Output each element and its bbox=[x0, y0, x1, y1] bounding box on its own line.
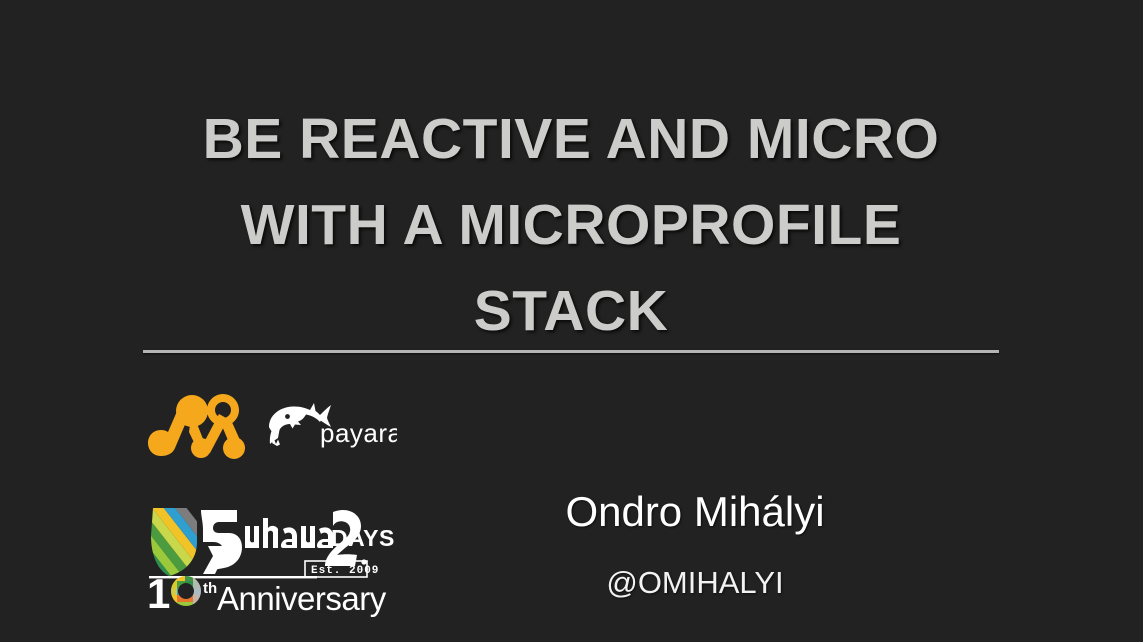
payara-wordmark: payara bbox=[320, 418, 397, 448]
anniversary-color-ring bbox=[169, 574, 205, 610]
title-divider bbox=[143, 350, 999, 353]
title-line-1: BE REACTIVE AND MICRO bbox=[143, 96, 999, 182]
javadays-anniversary-logo: DAYS 1 th Anniversary Es bbox=[145, 496, 395, 618]
javadays-days-wordmark: DAYS bbox=[331, 525, 395, 551]
anniversary-ordinal: th bbox=[203, 580, 217, 597]
anniversary-number: 1 bbox=[147, 570, 170, 617]
speaker-handle: @OMIHALYI bbox=[545, 564, 845, 602]
anniversary-word: Anniversary bbox=[217, 580, 387, 617]
payara-logo: payara bbox=[257, 399, 397, 451]
title-line-3: STACK bbox=[143, 268, 999, 354]
javadays-logo-container: DAYS 1 th Anniversary Es bbox=[145, 496, 395, 618]
speaker-name: Ondro Mihályi bbox=[545, 484, 845, 540]
sponsor-logo-row: payara bbox=[145, 386, 397, 464]
established-badge-label: Est. 2009 bbox=[311, 565, 379, 577]
slide-title: BE REACTIVE AND MICRO WITH A MICROPROFIL… bbox=[143, 96, 999, 354]
presentation-slide: BE REACTIVE AND MICRO WITH A MICROPROFIL… bbox=[0, 0, 1143, 642]
speaker-info: Ondro Mihályi @OMIHALYI bbox=[545, 484, 845, 602]
microprofile-logo bbox=[145, 386, 245, 464]
title-line-2: WITH A MICROPROFILE bbox=[143, 182, 999, 268]
javadays-inner-divider bbox=[149, 576, 317, 578]
